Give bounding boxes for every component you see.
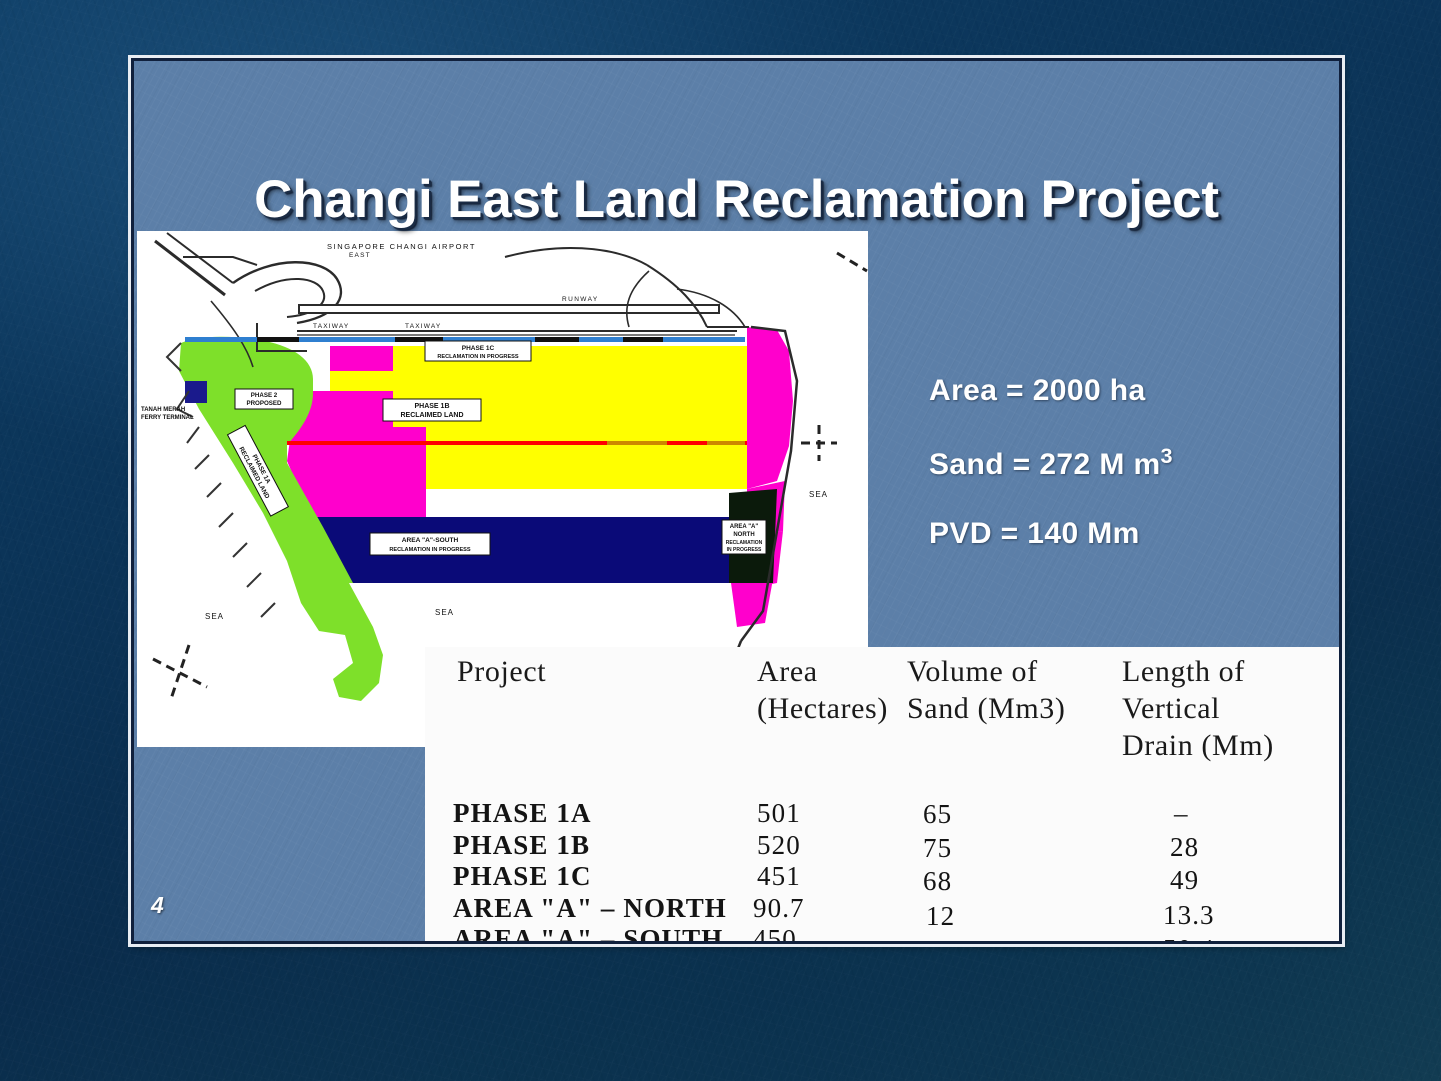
stat-pvd: PVD = 140 Mm	[929, 519, 1173, 549]
stat-sand-text: Sand = 272 M m	[929, 448, 1161, 481]
svg-text:IN PROGRESS: IN PROGRESS	[727, 547, 762, 553]
map-label-phase-1b: PHASE 1B RECLAIMED LAND	[383, 399, 481, 421]
svg-text:PHASE 2: PHASE 2	[251, 392, 278, 399]
svg-text:NORTH: NORTH	[733, 532, 754, 538]
map-label-airport: SINGAPORE CHANGI AIRPORT	[327, 242, 476, 251]
svg-text:FERRY TERMINAL: FERRY TERMINAL	[141, 415, 194, 421]
map-label-east: EAST	[349, 252, 371, 259]
svg-text:PROPOSED: PROPOSED	[246, 400, 282, 407]
table-row: PHASE 1B 520 75 28	[425, 830, 1342, 862]
svg-text:RECLAMATION: RECLAMATION	[726, 540, 763, 546]
map-label-sea-right: SEA	[809, 490, 828, 499]
table-row: PHASE 1C 451 68 49	[425, 861, 1342, 893]
svg-text:AREA "A": AREA "A"	[730, 524, 759, 530]
svg-text:TANAH MERAH: TANAH MERAH	[141, 407, 185, 413]
map-label-runway: RUNWAY	[562, 296, 599, 303]
svg-text:PHASE 1B: PHASE 1B	[414, 403, 449, 410]
stat-sand: Sand = 272 M m3	[929, 445, 1173, 480]
map-label-area-a-south: AREA "A"-SOUTH RECLAMATION IN PROGRESS	[370, 533, 490, 555]
slide-number: 4	[151, 892, 164, 919]
svg-text:RECLAMATION IN PROGRESS: RECLAMATION IN PROGRESS	[437, 354, 519, 360]
project-summary-table-figure: Project Area (Hectares) Volume of Sand (…	[425, 647, 1342, 941]
stat-area: Area = 2000 ha	[929, 376, 1173, 406]
svg-text:AREA "A"-SOUTH: AREA "A"-SOUTH	[402, 537, 459, 544]
table-header-project: Project	[457, 653, 757, 690]
svg-text:RECLAMATION IN PROGRESS: RECLAMATION IN PROGRESS	[389, 547, 471, 553]
table-row: PHASE 1A 501 65 –	[425, 798, 1342, 830]
map-label-sea-mid: SEA	[435, 608, 454, 617]
project-statistics: Area = 2000 ha Sand = 272 M m3 PVD = 140…	[929, 376, 1173, 549]
table-header-volume: Volume of Sand (Mm3)	[907, 653, 1122, 727]
stat-sand-superscript: 3	[1161, 443, 1173, 468]
page-title: Changi East Land Reclamation Project	[134, 169, 1339, 230]
map-label-area-a-north: AREA "A" NORTH RECLAMATION IN PROGRESS	[722, 520, 766, 554]
slide-root: Changi East Land Reclamation Project	[0, 0, 1441, 1081]
table-row: AREA "A" – NORTH 90.7 12 13.3	[425, 893, 1342, 925]
svg-text:RECLAIMED LAND: RECLAIMED LAND	[401, 412, 464, 419]
table-header-drain: Length of Vertical Drain (Mm)	[1122, 653, 1332, 764]
svg-text:PHASE 1C: PHASE 1C	[462, 345, 495, 352]
table-header-row: Project Area (Hectares) Volume of Sand (…	[425, 653, 1342, 764]
map-label-taxiway-left: TAXIWAY	[313, 323, 349, 330]
content-panel: Changi East Land Reclamation Project	[131, 58, 1342, 944]
map-label-phase-2: PHASE 2 PROPOSED	[235, 389, 293, 409]
map-label-sea-left: SEA	[205, 612, 224, 621]
project-summary-table: Project Area (Hectares) Volume of Sand (…	[425, 647, 1342, 941]
map-label-phase-1c: PHASE 1C RECLAMATION IN PROGRESS	[425, 341, 531, 361]
map-label-taxiway-right: TAXIWAY	[405, 323, 441, 330]
table-header-area: Area (Hectares)	[757, 653, 907, 727]
